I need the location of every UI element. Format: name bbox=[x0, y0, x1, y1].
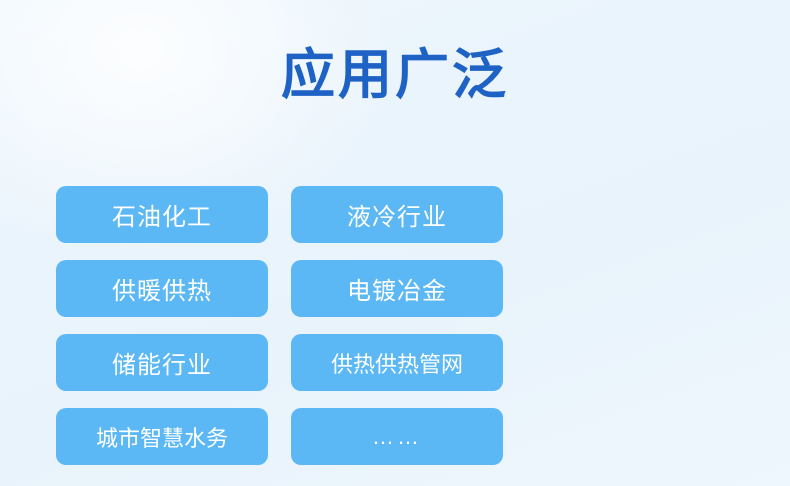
tag-energy-storage[interactable]: 储能行业 bbox=[56, 334, 268, 391]
tag-label: 液冷行业 bbox=[347, 197, 447, 232]
tag-label: 储能行业 bbox=[112, 345, 212, 380]
tag-heating-supply[interactable]: 供暖供热 bbox=[56, 260, 268, 317]
tag-petrochemical[interactable]: 石油化工 bbox=[56, 186, 268, 243]
tag-smart-urban-water[interactable]: 城市智慧水务 bbox=[56, 408, 268, 465]
tag-electroplating-metallurgy[interactable]: 电镀冶金 bbox=[291, 260, 503, 317]
tag-heat-supply-pipeline-network[interactable]: 供热供热管网 bbox=[291, 334, 503, 391]
tag-more-ellipsis[interactable]: …… bbox=[291, 408, 503, 465]
tag-label: …… bbox=[372, 424, 422, 450]
tag-label: 供暖供热 bbox=[112, 271, 212, 306]
tag-liquid-cooling[interactable]: 液冷行业 bbox=[291, 186, 503, 243]
tag-label: 城市智慧水务 bbox=[96, 421, 228, 453]
application-scope-banner: 应用广泛 石油化工 液冷行业 供暖供热 电镀冶金 储能行业 供热供热管网 城市智… bbox=[0, 0, 790, 486]
tag-label: 石油化工 bbox=[112, 197, 212, 232]
page-title: 应用广泛 bbox=[0, 44, 790, 106]
application-tag-grid: 石油化工 液冷行业 供暖供热 电镀冶金 储能行业 供热供热管网 城市智慧水务 …… bbox=[56, 186, 736, 465]
tag-label: 电镀冶金 bbox=[347, 271, 447, 306]
tag-label: 供热供热管网 bbox=[331, 347, 463, 379]
